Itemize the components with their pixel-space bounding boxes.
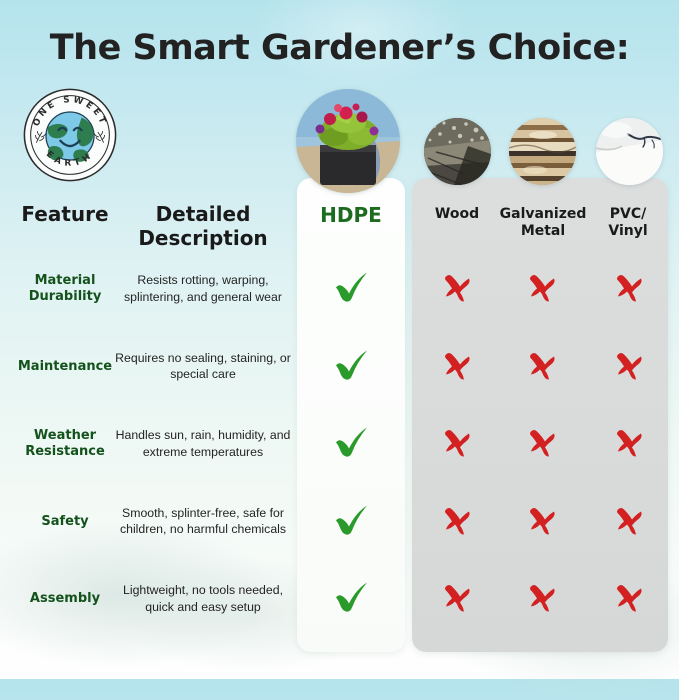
cell-pvc-vinyl-cross-icon xyxy=(614,427,644,462)
cell-hdpe-check-icon xyxy=(331,577,371,622)
cell-galvanized-metal-cross-icon xyxy=(527,504,557,539)
header-metal-line2: Metal xyxy=(521,223,565,239)
cell-hdpe-check-icon xyxy=(331,344,371,389)
cell-wood-cross-icon xyxy=(442,504,472,539)
header-wood: Wood xyxy=(412,206,502,223)
page-title: The Smart Gardener’s Choice: xyxy=(0,28,679,68)
galvanized-metal-photo xyxy=(509,118,576,185)
feature-label: WeatherResistance xyxy=(0,428,130,461)
wood-photo xyxy=(424,118,491,185)
header-feature: Feature xyxy=(0,203,130,227)
header-description-line2: Description xyxy=(138,226,267,250)
header-pvc-line1: PVC/ xyxy=(610,206,646,222)
header-hdpe: HDPE xyxy=(297,204,405,228)
feature-label: MaterialDurability xyxy=(0,273,130,306)
cell-galvanized-metal-cross-icon xyxy=(527,582,557,617)
cell-pvc-vinyl-cross-icon xyxy=(614,504,644,539)
cell-pvc-vinyl-cross-icon xyxy=(614,272,644,307)
header-metal-line1: Galvanized xyxy=(500,206,587,222)
cell-wood-cross-icon xyxy=(442,582,472,617)
feature-description: Handles sun, rain, humidity, and extreme… xyxy=(112,427,294,461)
cell-wood-cross-icon xyxy=(442,272,472,307)
hdpe-planter-photo xyxy=(296,89,400,193)
cell-pvc-vinyl-cross-icon xyxy=(614,582,644,617)
header-galvanized-metal: Galvanized Metal xyxy=(498,206,588,239)
feature-description: Resists rotting, warping, splintering, a… xyxy=(112,272,294,306)
header-pvc-line2: Vinyl xyxy=(608,223,647,239)
cell-galvanized-metal-cross-icon xyxy=(527,272,557,307)
cell-wood-cross-icon xyxy=(442,349,472,384)
header-description-line1: Detailed xyxy=(156,202,251,226)
cell-galvanized-metal-cross-icon xyxy=(527,427,557,462)
feature-label: Safety xyxy=(0,513,130,529)
cell-hdpe-check-icon xyxy=(331,267,371,312)
cell-galvanized-metal-cross-icon xyxy=(527,349,557,384)
cell-hdpe-check-icon xyxy=(331,499,371,544)
feature-description: Requires no sealing, staining, or specia… xyxy=(112,350,294,384)
cell-pvc-vinyl-cross-icon xyxy=(614,349,644,384)
feature-label: Assembly xyxy=(0,591,130,607)
cell-hdpe-check-icon xyxy=(331,422,371,467)
feature-description: Lightweight, no tools needed, quick and … xyxy=(112,582,294,616)
cell-wood-cross-icon xyxy=(442,427,472,462)
one-sweet-earth-logo: ONE SWEET EARTH xyxy=(22,87,118,183)
pvc-vinyl-photo xyxy=(596,118,663,185)
feature-description: Smooth, splinter-free, safe for children… xyxy=(112,505,294,539)
header-detailed-description: Detailed Description xyxy=(118,203,288,250)
feature-label: Maintenance xyxy=(0,358,130,374)
header-pvc-vinyl: PVC/ Vinyl xyxy=(586,206,670,239)
